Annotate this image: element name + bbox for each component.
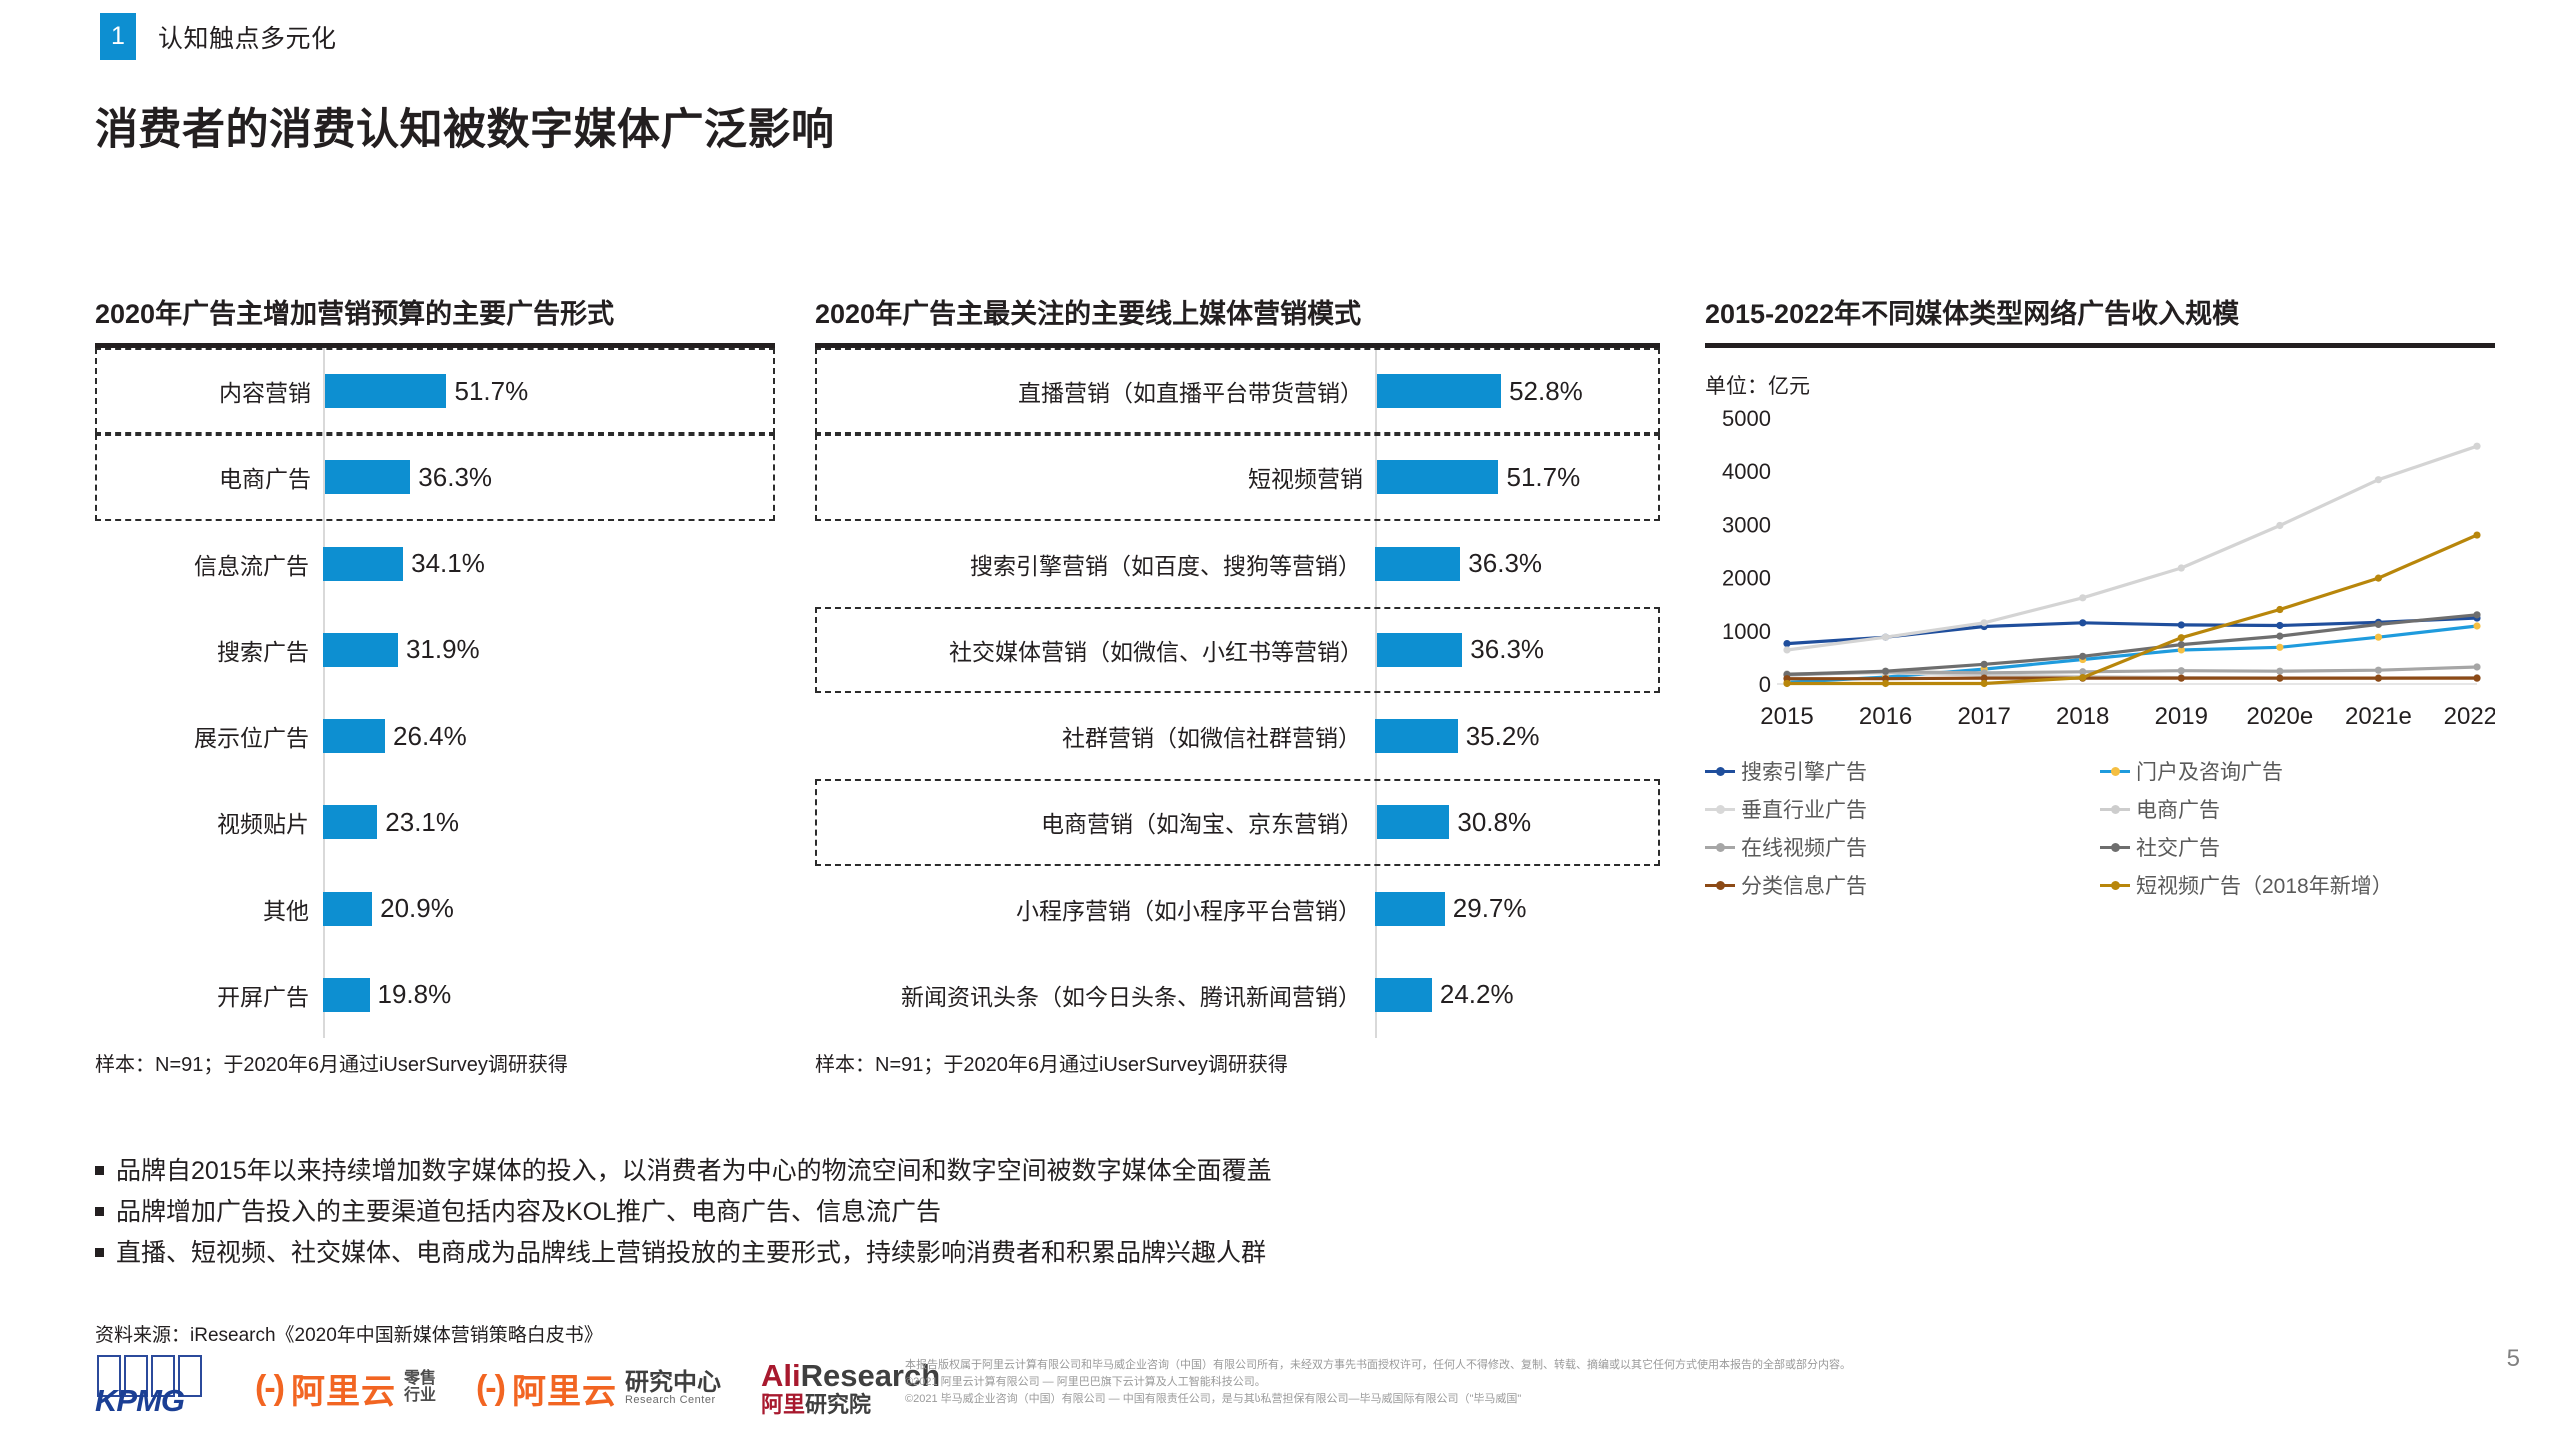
bar-row-label: 直播营销（如直播平台带货营销） [817, 374, 1377, 408]
bar-row-value-group: 29.7% [1375, 866, 1660, 952]
bar-row-label: 搜索广告 [95, 633, 323, 667]
bar-row-label: 搜索引擎营销（如百度、搜狗等营销） [815, 547, 1375, 581]
panel-right-rule [1705, 343, 2495, 348]
bar [323, 892, 372, 926]
bar-chart-row: 短视频营销51.7% [815, 434, 1660, 520]
bar-value-label: 20.9% [372, 893, 454, 924]
page-number: 5 [2507, 1345, 2520, 1373]
bar [325, 460, 410, 494]
bullet-text: 品牌自2015年以来持续增加数字媒体的投入，以消费者为中心的物流空间和数字空间被… [116, 1155, 1272, 1189]
bar-row-value-group: 20.9% [323, 866, 775, 952]
alicloud-wordmark: 阿里云 [291, 1364, 396, 1413]
data-point [2473, 622, 2480, 629]
data-point [2178, 564, 2185, 571]
legal-line-1: 本报告版权属于阿里云计算有限公司和毕马威企业咨询（中国）有限公司所有，未经双方事… [905, 1358, 2305, 1373]
bar-row-value-group: 30.8% [1377, 781, 1658, 863]
legal-disclaimer: 本报告版权属于阿里云计算有限公司和毕马威企业咨询（中国）有限公司所有，未经双方事… [905, 1358, 2305, 1409]
legend-label: 社交广告 [2136, 832, 2220, 862]
alicloud-retail-sub: 零售 行业 [404, 1371, 436, 1405]
line-path [1787, 446, 2477, 650]
bar-row-value-group: 23.1% [323, 779, 775, 865]
bar-row-label: 电商广告 [97, 460, 325, 494]
list-item: 品牌增加广告投入的主要渠道包括内容及KOL推广、电商广告、信息流广告 [95, 1196, 1272, 1230]
data-point [2178, 667, 2185, 674]
data-point [2178, 634, 2185, 641]
x-axis-tick: 2015 [1760, 703, 1813, 730]
bar-value-label: 51.7% [1498, 462, 1580, 493]
source-note: 资料来源：iResearch《2020年中国新媒体营销策略白皮书》 [95, 1320, 603, 1347]
bar-value-label: 36.3% [1460, 548, 1542, 579]
y-axis-tick: 4000 [1722, 459, 1771, 484]
legend-label: 垂直行业广告 [1741, 794, 1867, 824]
data-point [1882, 668, 1889, 675]
bar-value-label: 36.3% [410, 462, 492, 493]
legend-item[interactable]: 社交广告 [2100, 832, 2495, 862]
bar-chart-row: 新闻资讯头条（如今日头条、腾讯新闻营销）24.2% [815, 952, 1660, 1038]
line-chart: 0100020003000400050002015201620172018201… [1705, 406, 2495, 746]
data-point [2375, 675, 2382, 682]
bar [323, 719, 385, 753]
legal-line-2: ©2021 阿里云计算有限公司 — 阿里巴巴旗下云计算及人工智能科技公司。 [905, 1375, 2305, 1390]
bar [1375, 892, 1445, 926]
y-axis-tick: 2000 [1722, 566, 1771, 591]
data-point [2375, 476, 2382, 483]
panel-left-title: 2020年广告主增加营销预算的主要广告形式 [95, 292, 775, 331]
bar-row-value-group: 51.7% [325, 350, 773, 432]
legend-swatch-icon [2100, 839, 2130, 855]
legend-label: 在线视频广告 [1741, 832, 1867, 862]
legend-label: 搜索引擎广告 [1741, 756, 1867, 786]
panel-right: 2015-2022年不同媒体类型网络广告收入规模 单位：亿元 010002000… [1705, 292, 2495, 908]
bar-row-label: 短视频营销 [817, 460, 1377, 494]
bar-value-label: 36.3% [1462, 634, 1544, 665]
bar-chart-row: 开屏广告19.8% [95, 952, 775, 1038]
data-point [2276, 675, 2283, 682]
bar-chart-row: 直播营销（如直播平台带货营销）52.8% [815, 348, 1660, 434]
bar-value-label: 52.8% [1501, 376, 1583, 407]
bar [1377, 805, 1449, 839]
x-axis-tick: 2017 [1957, 703, 2010, 730]
alicloud-mark-icon: (-) [255, 1369, 283, 1408]
aliresearch-ali: Ali [761, 1358, 801, 1393]
aliresearch-cn-red: 阿里 [761, 1392, 805, 1417]
bar-chart-row: 社群营销（如微信社群营销）35.2% [815, 693, 1660, 779]
panel-mid: 2020年广告主最关注的主要线上媒体营销模式 直播营销（如直播平台带货营销）52… [815, 292, 1660, 1077]
bar-value-label: 19.8% [370, 979, 452, 1010]
key-takeaways: 品牌自2015年以来持续增加数字媒体的投入，以消费者为中心的物流空间和数字空间被… [95, 1155, 1272, 1277]
bar-row-label: 小程序营销（如小程序平台营销） [815, 892, 1375, 926]
data-point [2079, 619, 2086, 626]
data-point [2178, 621, 2185, 628]
bar [1375, 719, 1458, 753]
bar [1375, 547, 1460, 581]
alicloud-wordmark: 阿里云 [512, 1364, 617, 1413]
bar-value-label: 35.2% [1458, 721, 1540, 752]
y-axis-tick: 5000 [1722, 406, 1771, 431]
legend-item[interactable]: 在线视频广告 [1705, 832, 2100, 862]
alicloud-research-sub: 研究中心 Research Center [625, 1370, 721, 1407]
line-path [1787, 618, 2477, 644]
x-axis-tick: 2020e [2246, 703, 2313, 730]
legend-swatch-icon [1705, 877, 1735, 893]
legend-swatch-icon [1705, 801, 1735, 817]
bar-row-value-group: 31.9% [323, 607, 775, 693]
line-path [1787, 535, 2477, 684]
legend-label: 分类信息广告 [1741, 870, 1867, 900]
data-point [1783, 646, 1790, 653]
data-point [2276, 606, 2283, 613]
legend-swatch-icon [1705, 763, 1735, 779]
data-point [1981, 661, 1988, 668]
bar-chart-row: 其他20.9% [95, 866, 775, 952]
bar-row-value-group: 51.7% [1377, 436, 1658, 518]
kpmg-logo: KPMG [95, 1355, 215, 1421]
bar-value-label: 51.7% [446, 376, 528, 407]
bar-chart-row: 小程序营销（如小程序平台营销）29.7% [815, 866, 1660, 952]
bar [323, 547, 403, 581]
panel-right-title: 2015-2022年不同媒体类型网络广告收入规模 [1705, 292, 2495, 331]
bar-row-value-group: 24.2% [1375, 952, 1660, 1038]
bar-row-value-group: 52.8% [1377, 350, 1658, 432]
bar-row-label: 信息流广告 [95, 547, 323, 581]
bar-row-value-group: 35.2% [1375, 693, 1660, 779]
data-point [2178, 641, 2185, 648]
legend-label: 短视频广告（2018年新增） [2136, 870, 2393, 900]
panel-left-bar-chart: 内容营销51.7%电商广告36.3%信息流广告34.1%搜索广告31.9%展示位… [95, 348, 775, 1038]
alicloud-research-logo: (-) 阿里云 研究中心 Research Center [476, 1364, 721, 1413]
bar-value-label: 23.1% [377, 807, 459, 838]
panel-left-sample-note: 样本：N=91；于2020年6月通过iUserSurvey调研获得 [95, 1048, 775, 1077]
x-axis-tick: 2019 [2155, 703, 2208, 730]
bar [1375, 978, 1432, 1012]
bullet-text: 直播、短视频、社交媒体、电商成为品牌线上营销投放的主要形式，持续影响消费者和积累… [116, 1237, 1266, 1271]
aliresearch-cn-dark: 研究院 [805, 1392, 871, 1417]
data-point [2473, 443, 2480, 450]
bar-row-label: 社群营销（如微信社群营销） [815, 719, 1375, 753]
legend-item[interactable]: 门户及咨询广告 [2100, 756, 2495, 786]
bullet-square-icon [95, 1207, 104, 1216]
legend-swatch-icon [1705, 839, 1735, 855]
data-point [1981, 680, 1988, 687]
bullet-square-icon [95, 1248, 104, 1257]
data-point [2375, 621, 2382, 628]
data-point [2178, 675, 2185, 682]
bullet-square-icon [95, 1166, 104, 1175]
bar-chart-row: 电商广告36.3% [95, 434, 775, 520]
bar-value-label: 30.8% [1449, 807, 1531, 838]
data-point [2079, 674, 2086, 681]
panel-right-unit-note: 单位：亿元 [1705, 370, 2495, 400]
alicloud-retail-sub-2: 行业 [404, 1388, 436, 1405]
bar [1377, 633, 1462, 667]
bar-chart-row: 电商营销（如淘宝、京东营销）30.8% [815, 779, 1660, 865]
data-point [1882, 634, 1889, 641]
bar-row-value-group: 36.3% [1377, 609, 1658, 691]
kpmg-wordmark: KPMG [95, 1383, 184, 1419]
alicloud-retail-logo: (-) 阿里云 零售 行业 [255, 1364, 436, 1413]
data-point [2473, 531, 2480, 538]
bar [325, 374, 446, 408]
alicloud-research-sub-cn: 研究中心 [625, 1370, 721, 1395]
bar-row-label: 电商营销（如淘宝、京东营销） [817, 805, 1377, 839]
y-axis-tick: 3000 [1722, 512, 1771, 537]
bar-row-label: 视频贴片 [95, 805, 323, 839]
list-item: 直播、短视频、社交媒体、电商成为品牌线上营销投放的主要形式，持续影响消费者和积累… [95, 1237, 1272, 1271]
x-axis-tick: 2021e [2345, 703, 2412, 730]
bar-chart-row: 社交媒体营销（如微信、小红书等营销）36.3% [815, 607, 1660, 693]
bar [323, 978, 370, 1012]
bar-row-label: 新闻资讯头条（如今日头条、腾讯新闻营销） [815, 978, 1375, 1012]
legend-swatch-icon [2100, 877, 2130, 893]
bar-value-label: 29.7% [1445, 893, 1527, 924]
bar-row-value-group: 36.3% [1375, 521, 1660, 607]
bar-chart-row: 搜索引擎营销（如百度、搜狗等营销）36.3% [815, 521, 1660, 607]
logo-row: KPMG (-) 阿里云 零售 行业 (-) 阿里云 研究中心 Research… [95, 1355, 940, 1421]
bar-row-label: 其他 [95, 892, 323, 926]
alicloud-research-sub-en: Research Center [625, 1395, 721, 1407]
data-point [1882, 680, 1889, 687]
legend-item[interactable]: 短视频广告（2018年新增） [2100, 870, 2495, 900]
data-point [2276, 644, 2283, 651]
data-point [2276, 622, 2283, 629]
line-chart-legend: 搜索引擎广告门户及咨询广告垂直行业广告电商广告在线视频广告社交广告分类信息广告短… [1705, 756, 2495, 908]
panel-mid-bar-chart: 直播营销（如直播平台带货营销）52.8%短视频营销51.7%搜索引擎营销（如百度… [815, 348, 1660, 1038]
data-point [2375, 634, 2382, 641]
bar [1377, 460, 1498, 494]
data-point [2473, 675, 2480, 682]
bar [323, 633, 398, 667]
data-point [2375, 667, 2382, 674]
legend-label: 门户及咨询广告 [2136, 756, 2283, 786]
bar-row-label: 展示位广告 [95, 719, 323, 753]
section-label: 认知触点多元化 [158, 19, 337, 55]
list-item: 品牌自2015年以来持续增加数字媒体的投入，以消费者为中心的物流空间和数字空间被… [95, 1155, 1272, 1189]
bar-chart-row: 视频贴片23.1% [95, 779, 775, 865]
data-point [2473, 611, 2480, 618]
bar-value-label: 26.4% [385, 721, 467, 752]
data-point [2473, 663, 2480, 670]
alicloud-retail-sub-1: 零售 [404, 1371, 436, 1388]
bar-row-value-group: 36.3% [325, 436, 773, 518]
bar-chart-row: 内容营销51.7% [95, 348, 775, 434]
legal-line-3: ©2021 毕马威企业咨询（中国）有限公司 — 中国有限责任公司，是与其ს私营担… [905, 1392, 2305, 1407]
data-point [2375, 575, 2382, 582]
panel-mid-sample-note: 样本：N=91；于2020年6月通过iUserSurvey调研获得 [815, 1048, 1660, 1077]
line-path [1787, 678, 2477, 679]
panel-left: 2020年广告主增加营销预算的主要广告形式 内容营销51.7%电商广告36.3%… [95, 292, 775, 1077]
data-point [2276, 522, 2283, 529]
bar-row-label: 内容营销 [97, 374, 325, 408]
legend-swatch-icon [2100, 801, 2130, 817]
line-series [1783, 614, 2480, 647]
y-axis-tick: 1000 [1722, 619, 1771, 644]
data-point [2079, 653, 2086, 660]
bar-row-label: 开屏广告 [95, 978, 323, 1012]
page-title: 消费者的消费认知被数字媒体广泛影响 [95, 95, 835, 157]
data-point [1783, 640, 1790, 647]
bar-row-value-group: 19.8% [323, 952, 775, 1038]
bar-value-label: 31.9% [398, 634, 480, 665]
slide: 1 认知触点多元化 消费者的消费认知被数字媒体广泛影响 2020年广告主增加营销… [0, 0, 2560, 1440]
bar-value-label: 34.1% [403, 548, 485, 579]
legend-swatch-icon [2100, 763, 2130, 779]
bar [1377, 374, 1501, 408]
bar-value-label: 24.2% [1432, 979, 1514, 1010]
x-axis-tick: 2018 [2056, 703, 2109, 730]
legend-item[interactable]: 搜索引擎广告 [1705, 756, 2100, 786]
legend-label: 电商广告 [2136, 794, 2220, 824]
bar-chart-row: 信息流广告34.1% [95, 521, 775, 607]
data-point [2276, 668, 2283, 675]
bullet-text: 品牌增加广告投入的主要渠道包括内容及KOL推广、电商广告、信息流广告 [116, 1196, 941, 1230]
line-series [1783, 531, 2480, 687]
legend-item[interactable]: 分类信息广告 [1705, 870, 2100, 900]
data-point [2276, 633, 2283, 640]
data-point [1783, 680, 1790, 687]
x-axis-tick: 2022e [2444, 703, 2495, 730]
y-axis-tick: 0 [1759, 672, 1771, 697]
section-eyebrow: 1 认知触点多元化 [100, 13, 337, 60]
bar-row-value-group: 34.1% [323, 521, 775, 607]
bar-chart-row: 搜索广告31.9% [95, 607, 775, 693]
data-point [1981, 619, 1988, 626]
alicloud-mark-icon: (-) [476, 1369, 504, 1408]
legend-item[interactable]: 电商广告 [2100, 794, 2495, 824]
panel-mid-title: 2020年广告主最关注的主要线上媒体营销模式 [815, 292, 1660, 331]
data-point [2079, 594, 2086, 601]
legend-item[interactable]: 垂直行业广告 [1705, 794, 2100, 824]
bar-chart-row: 展示位广告26.4% [95, 693, 775, 779]
x-axis-tick: 2016 [1859, 703, 1912, 730]
bar [323, 805, 377, 839]
bar-row-value-group: 26.4% [323, 693, 775, 779]
bar-row-label: 社交媒体营销（如微信、小红书等营销） [817, 633, 1377, 667]
section-number: 1 [100, 13, 136, 60]
